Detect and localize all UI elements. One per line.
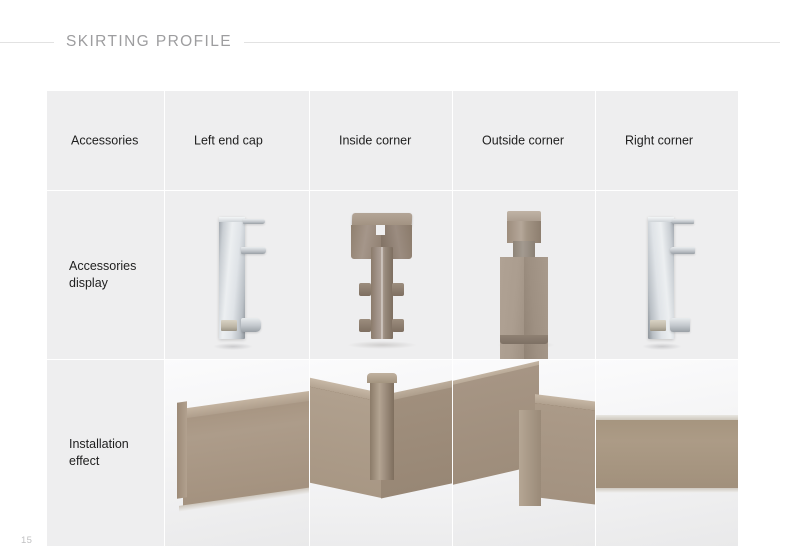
header-cell-outside-corner: Outside corner (453, 91, 596, 191)
cell-outside-corner-photo (453, 360, 596, 546)
skirting-end-cap (177, 401, 187, 498)
outside-corner-foot (500, 335, 548, 344)
cell-outside-corner-part (453, 191, 596, 360)
cell-inside-corner-part (310, 191, 453, 360)
header-label-right-corner: Right corner (625, 132, 693, 149)
row-label-line-1: Accessories (69, 258, 136, 275)
table-row: Accessories display (47, 191, 738, 360)
part-shadow (642, 343, 682, 350)
inside-corner-clip-left-upper (359, 283, 371, 296)
outside-corner-body-left (500, 257, 524, 360)
header-label-outside-corner: Outside corner (482, 132, 564, 149)
inside-corner-notch (376, 225, 385, 235)
cell-inside-corner-photo (310, 360, 453, 546)
end-cap-foot (650, 320, 666, 331)
end-cap-tab-upper (672, 219, 694, 224)
cell-right-corner-photo (596, 360, 738, 546)
cell-left-end-cap-part (165, 191, 310, 360)
title-rule-right (244, 42, 780, 43)
row-label-line-2: effect (69, 453, 129, 470)
end-cap-top-edge (219, 217, 245, 222)
header-cell-inside-corner: Inside corner (310, 91, 453, 191)
metal-end-cap-right-icon (596, 191, 738, 359)
inside-corner-part-icon (310, 191, 452, 359)
part-shadow (347, 341, 417, 349)
header-label-accessories: Accessories (71, 132, 138, 149)
end-cap-tab-middle (241, 247, 266, 254)
row-label-installation-effect: Installation effect (47, 360, 165, 546)
row-label-line-1: Installation (69, 436, 129, 453)
end-cap-top-edge (648, 217, 674, 222)
header-label-inside-corner: Inside corner (339, 132, 411, 149)
page-header: SKIRTING PROFILE (0, 31, 800, 53)
header-cell-right-corner: Right corner (596, 91, 738, 191)
metal-end-cap-left-icon (165, 191, 309, 359)
end-cap-tab-lower (241, 318, 261, 332)
inside-corner-stem-ridge (381, 247, 383, 339)
page-number: 15 (21, 535, 32, 546)
header-cell-accessories: Accessories (47, 91, 165, 191)
inside-corner-clip-right-upper (392, 283, 404, 296)
photo-inside-corner-installed (310, 360, 452, 546)
inside-corner-clip-right-lower (392, 319, 404, 332)
part-shadow (213, 343, 253, 350)
inside-corner-joint-cap (367, 373, 397, 383)
end-cap-tab-middle (670, 247, 695, 254)
row-label-line-2: display (69, 275, 136, 292)
photo-right-corner-installed (596, 360, 738, 546)
title-rule-left (0, 42, 54, 43)
outside-corner-joint (519, 410, 541, 506)
end-cap-tab-lower (670, 318, 690, 332)
row-label-text: Installation effect (69, 436, 129, 470)
table-row: Installation effect (47, 360, 738, 546)
inside-corner-clip-left-lower (359, 319, 371, 332)
skirting-right-face (535, 403, 595, 507)
page-title: SKIRTING PROFILE (54, 33, 244, 51)
table-header-row: Accessories Left end cap Inside corner O… (47, 91, 738, 191)
cell-left-end-cap-photo (165, 360, 310, 546)
row-label-accessories-display: Accessories display (47, 191, 165, 360)
photo-left-end-cap-installed (165, 360, 309, 546)
inside-corner-joint (370, 376, 394, 480)
photo-outside-corner-installed (453, 360, 595, 546)
end-cap-foot (221, 320, 237, 331)
outside-corner-cap-body (507, 221, 541, 243)
accessories-table: Accessories Left end cap Inside corner O… (47, 91, 738, 546)
skirting-board-face (596, 420, 738, 490)
outside-corner-body-right (524, 257, 548, 360)
header-label-left-end-cap: Left end cap (194, 132, 263, 149)
header-cell-left-end-cap: Left end cap (165, 91, 310, 191)
cell-right-corner-part (596, 191, 738, 360)
outside-corner-part-icon (453, 191, 595, 359)
skirting-base-shadow (596, 488, 738, 493)
row-label-text: Accessories display (69, 258, 136, 292)
end-cap-tab-upper (243, 219, 265, 224)
